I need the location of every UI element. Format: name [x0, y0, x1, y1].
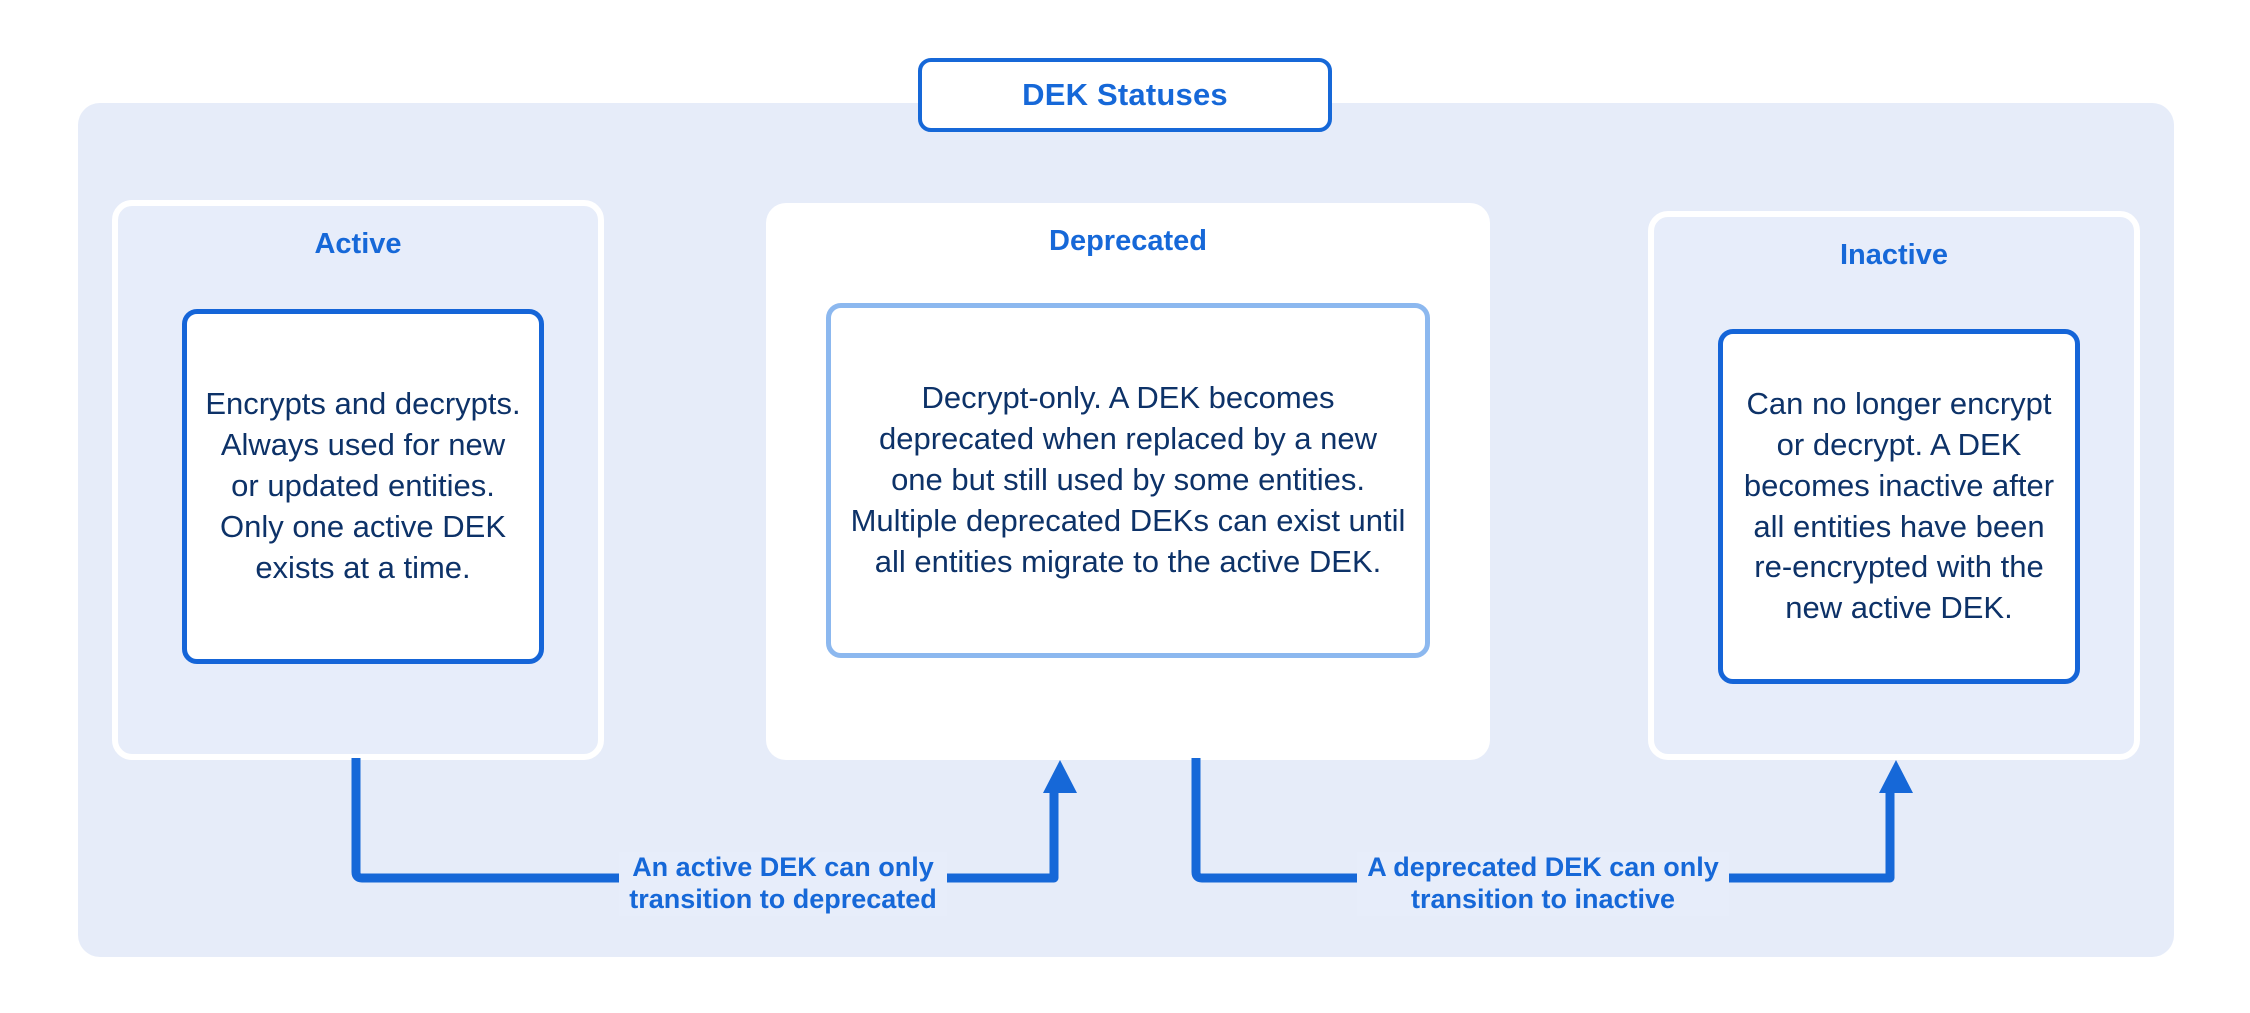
status-description-active: Encrypts and decrypts. Always used for n…	[205, 384, 521, 589]
transition-label-line1: An active DEK can only	[629, 852, 937, 884]
status-card-active[interactable]: Active Encrypts and decrypts. Always use…	[112, 200, 604, 760]
status-card-deprecated[interactable]: Deprecated Decrypt-only. A DEK becomes d…	[766, 203, 1490, 760]
transition-label-active-to-deprecated: An active DEK can only transition to dep…	[619, 852, 947, 916]
diagram-canvas: Active Encrypts and decrypts. Always use…	[0, 0, 2250, 1013]
status-description-inactive: Can no longer encrypt or decrypt. A DEK …	[1741, 384, 2057, 629]
status-card-inactive[interactable]: Inactive Can no longer encrypt or decryp…	[1648, 211, 2140, 760]
diagram-title-chip: DEK Statuses	[918, 58, 1332, 132]
status-heading-active: Active	[118, 228, 598, 261]
status-description-box-deprecated: Decrypt-only. A DEK becomes deprecated w…	[826, 303, 1430, 658]
transition-label-line1: A deprecated DEK can only	[1367, 852, 1719, 884]
status-heading-inactive: Inactive	[1654, 239, 2134, 272]
page-title: DEK Statuses	[1022, 77, 1228, 113]
status-description-deprecated: Decrypt-only. A DEK becomes deprecated w…	[849, 378, 1407, 583]
status-description-box-active: Encrypts and decrypts. Always used for n…	[182, 309, 544, 664]
transition-label-line2: transition to inactive	[1367, 884, 1719, 916]
status-heading-deprecated: Deprecated	[766, 225, 1490, 258]
transition-label-deprecated-to-inactive: A deprecated DEK can only transition to …	[1357, 852, 1729, 916]
status-description-box-inactive: Can no longer encrypt or decrypt. A DEK …	[1718, 329, 2080, 684]
transition-label-line2: transition to deprecated	[629, 884, 937, 916]
